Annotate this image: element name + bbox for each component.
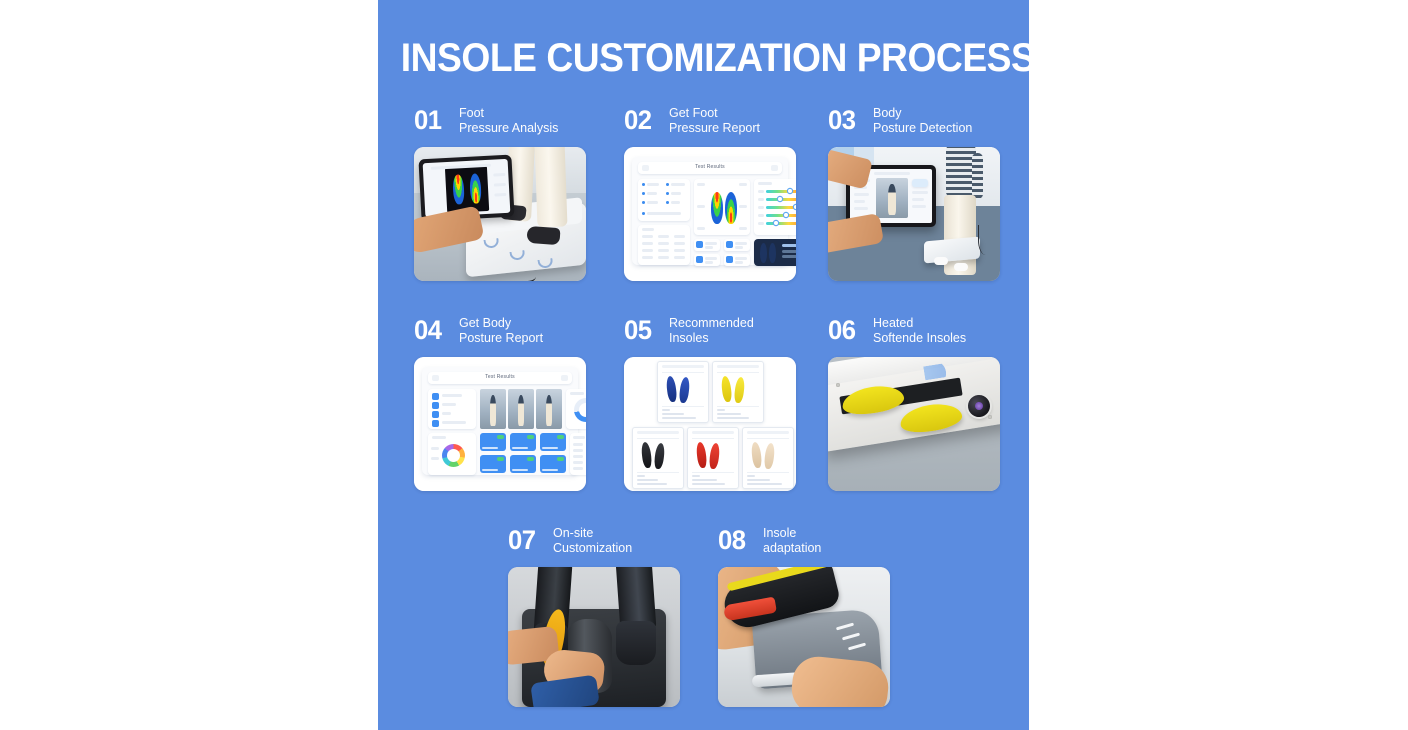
step-label-line1-03: Body	[873, 106, 1003, 121]
patient-info-panel	[638, 179, 690, 221]
step-card-06[interactable]: 06 Heated Softende Insoles	[828, 315, 1000, 491]
step-card-08[interactable]: 08 Insole adaptation	[718, 525, 890, 707]
step-label-01: Foot Pressure Analysis	[459, 106, 589, 136]
step-label-05: Recommended Insoles	[669, 316, 799, 346]
page-title: INSOLE CUSTOMIZATION PROCESS	[401, 36, 1006, 81]
step-card-02[interactable]: 02 Get Foot Pressure Report Test Results	[624, 105, 796, 281]
step-number-01: 01	[414, 107, 442, 134]
step-label-line1-02: Get Foot	[669, 106, 799, 121]
step-label-line2-05: Insoles	[669, 331, 799, 346]
step-number-04: 04	[414, 317, 442, 344]
step-label-line1-05: Recommended	[669, 316, 799, 331]
step-photo-01	[414, 147, 586, 281]
pressure-heatmap-panel	[694, 179, 750, 235]
body-photo	[536, 389, 562, 429]
refresh-icon[interactable]	[771, 165, 778, 171]
step-label-line2-03: Posture Detection	[873, 121, 1003, 136]
step-photo-02: Test Results	[624, 147, 796, 281]
step-card-01[interactable]: 01 Foot Pressure Analysis	[414, 105, 586, 281]
steps-row-2: 04 Get Body Posture Report Test Results	[378, 315, 1029, 525]
poster-panel: INSOLE CUSTOMIZATION PROCESS 01 Foot Pre…	[378, 0, 1029, 730]
subject-info-panel	[428, 389, 476, 429]
metrics-table	[570, 433, 586, 475]
step-label-line1-01: Foot	[459, 106, 589, 121]
step-label-02: Get Foot Pressure Report	[669, 106, 799, 136]
metric-chip[interactable]	[694, 254, 720, 266]
metric-chip[interactable]	[724, 239, 750, 251]
dashboard-titlebar-04: Test Results	[428, 372, 572, 384]
analysis-card[interactable]	[480, 433, 506, 451]
body-photo	[480, 389, 506, 429]
step-header-03: 03 Body Posture Detection	[828, 105, 1000, 147]
steps-grid: 01 Foot Pressure Analysis	[378, 105, 1029, 730]
analysis-card[interactable]	[540, 455, 566, 473]
step-header-08: 08 Insole adaptation	[718, 525, 890, 567]
steps-row-3: 07 On-site Customization	[378, 525, 1029, 730]
dashboard-title-02: Test Results	[638, 164, 782, 170]
insole-preview-panel	[754, 239, 796, 266]
step-header-04: 04 Get Body Posture Report	[414, 315, 586, 357]
step-label-line2-01: Pressure Analysis	[459, 121, 589, 136]
insole-product-card[interactable]	[742, 427, 794, 489]
posture-report-dashboard: Test Results	[422, 367, 578, 475]
distribution-ring-panel	[428, 433, 476, 475]
analysis-card[interactable]	[480, 455, 506, 473]
step-photo-07	[508, 567, 680, 707]
poster-canvas: INSOLE CUSTOMIZATION PROCESS 01 Foot Pre…	[0, 0, 1408, 730]
insole-product-card[interactable]	[657, 361, 709, 423]
step-card-03[interactable]: 03 Body Posture Detection	[828, 105, 1000, 281]
metric-chip[interactable]	[724, 254, 750, 266]
insole-product-card[interactable]	[632, 427, 684, 489]
metric-chip[interactable]	[694, 239, 720, 251]
step-number-02: 02	[624, 107, 652, 134]
step-label-line2-08: adaptation	[763, 541, 893, 556]
step-card-04[interactable]: 04 Get Body Posture Report Test Results	[414, 315, 586, 491]
step-number-07: 07	[508, 527, 536, 554]
foot-report-dashboard: Test Results	[632, 157, 788, 265]
step-label-line2-06: Softende Insoles	[873, 331, 1003, 346]
step-header-06: 06 Heated Softende Insoles	[828, 315, 1000, 357]
step-header-05: 05 Recommended Insoles	[624, 315, 796, 357]
body-photo	[508, 389, 534, 429]
step-label-06: Heated Softende Insoles	[873, 316, 1003, 346]
step-label-04: Get Body Posture Report	[459, 316, 589, 346]
step-header-02: 02 Get Foot Pressure Report	[624, 105, 796, 147]
analysis-card[interactable]	[540, 433, 566, 451]
score-ring-panel	[566, 389, 586, 429]
step-number-08: 08	[718, 527, 746, 554]
dashboard-title-04: Test Results	[428, 374, 572, 380]
step-photo-06	[828, 357, 1000, 491]
step-photo-03	[828, 147, 1000, 281]
step-number-05: 05	[624, 317, 652, 344]
step-label-line1-08: Insole	[763, 526, 893, 541]
step-photo-08	[718, 567, 890, 707]
step-label-line2-04: Posture Report	[459, 331, 589, 346]
step-number-03: 03	[828, 107, 856, 134]
insole-product-card[interactable]	[687, 427, 739, 489]
step-photo-04: Test Results	[414, 357, 586, 491]
analysis-card[interactable]	[510, 455, 536, 473]
step-card-05[interactable]: 05 Recommended Insoles	[624, 315, 796, 491]
step-label-line2-02: Pressure Report	[669, 121, 799, 136]
step-label-line1-07: On-site	[553, 526, 683, 541]
analysis-card[interactable]	[510, 433, 536, 451]
dashboard-titlebar-02: Test Results	[638, 162, 782, 174]
step-card-07[interactable]: 07 On-site Customization	[508, 525, 680, 707]
step-label-line2-07: Customization	[553, 541, 683, 556]
step-label-line1-04: Get Body	[459, 316, 589, 331]
step-header-07: 07 On-site Customization	[508, 525, 680, 567]
step-photo-05	[624, 357, 796, 491]
measurement-table	[638, 225, 690, 265]
step-label-08: Insole adaptation	[763, 526, 893, 556]
step-label-line1-06: Heated	[873, 316, 1003, 331]
step-number-06: 06	[828, 317, 856, 344]
insole-product-card[interactable]	[712, 361, 764, 423]
step-label-07: On-site Customization	[553, 526, 683, 556]
refresh-icon[interactable]	[561, 375, 568, 381]
step-label-03: Body Posture Detection	[873, 106, 1003, 136]
steps-row-1: 01 Foot Pressure Analysis	[378, 105, 1029, 315]
gauge-panel	[754, 179, 796, 235]
step-header-01: 01 Foot Pressure Analysis	[414, 105, 586, 147]
